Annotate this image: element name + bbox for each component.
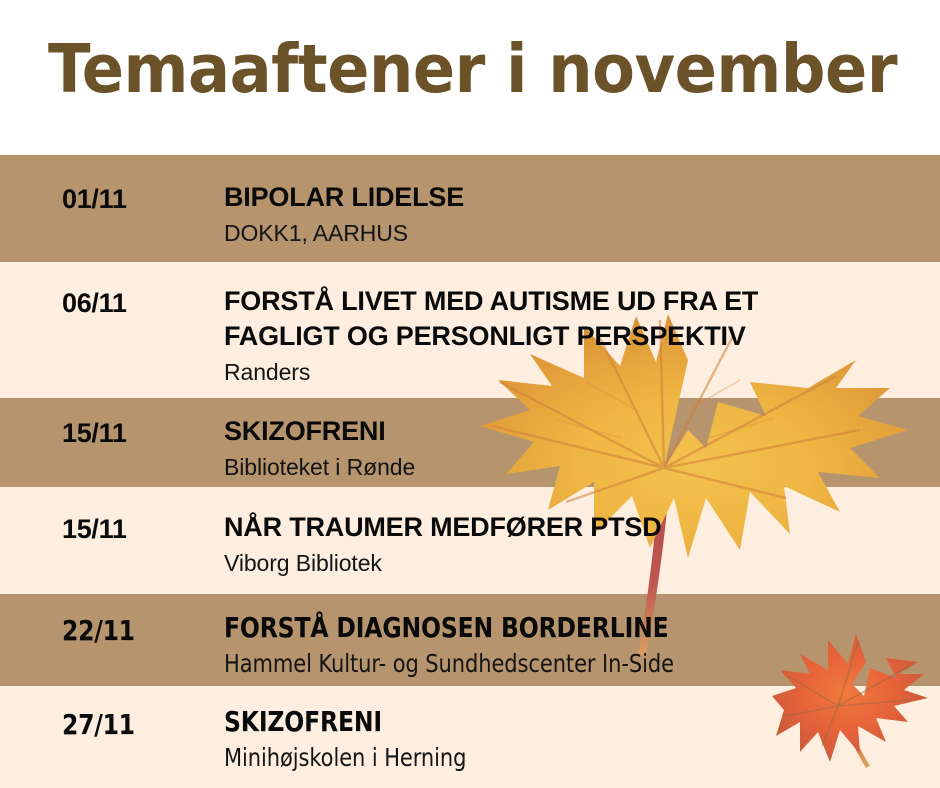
page-title: Temaaftener i november <box>48 30 897 108</box>
maple-leaf-orange-icon <box>770 612 940 788</box>
maple-leaf-golden-icon <box>388 130 940 670</box>
small-leaf-blade <box>772 634 928 762</box>
poster-header: Temaaftener i november <box>0 0 940 155</box>
leaf-blade <box>480 314 908 558</box>
poster: Temaaftener i november 01/11 BIPOLAR LID… <box>0 0 940 788</box>
